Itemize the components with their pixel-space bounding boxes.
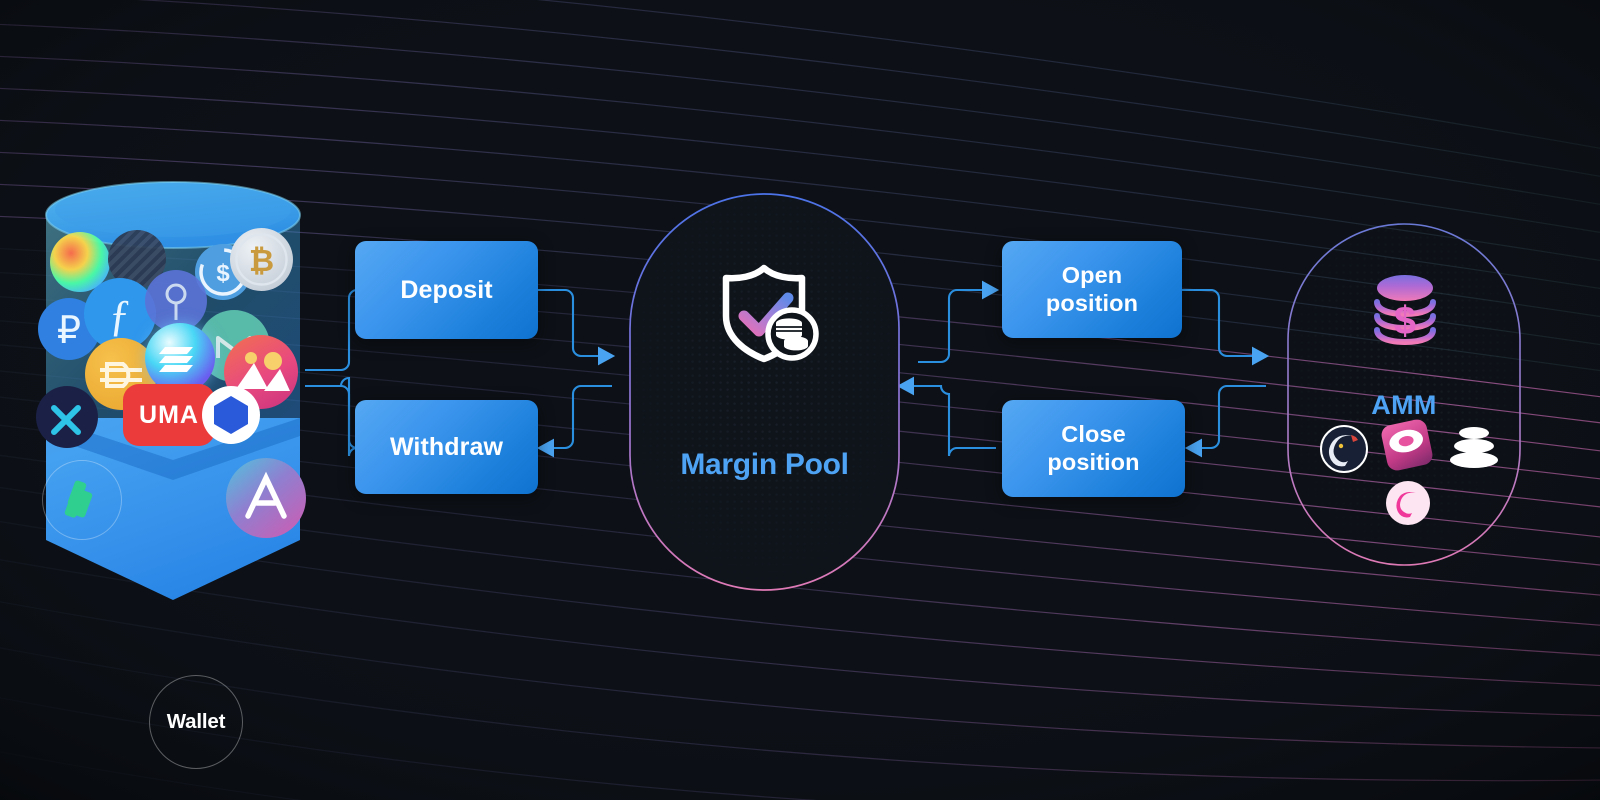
open-position-label-line1: Open bbox=[1062, 262, 1122, 288]
uniswap-logo-icon[interactable] bbox=[1386, 481, 1430, 525]
svg-text:$: $ bbox=[1394, 299, 1416, 343]
withdraw-button[interactable]: Withdraw bbox=[355, 400, 538, 494]
open-position-button[interactable]: Open position bbox=[1002, 241, 1182, 338]
amm-label: AMM bbox=[1286, 390, 1522, 421]
amm-group[interactable]: $ AMM bbox=[1286, 222, 1522, 567]
1inch-logo-icon[interactable] bbox=[1320, 425, 1368, 473]
withdraw-button-label: Withdraw bbox=[390, 433, 503, 462]
margin-pool[interactable]: Margin Pool bbox=[628, 192, 901, 592]
open-position-label-line2: position bbox=[1046, 290, 1138, 316]
diagram-canvas: $ ₿ ₽ ƒ UMA bbox=[0, 0, 1600, 800]
close-position-label-line1: Close bbox=[1061, 421, 1126, 447]
chainlink-token-icon bbox=[202, 386, 260, 444]
close-position-button[interactable]: Close position bbox=[1002, 400, 1185, 497]
margin-pool-capsule bbox=[628, 192, 901, 592]
aave-token-icon[interactable] bbox=[226, 458, 306, 538]
deposit-button-label: Deposit bbox=[400, 276, 492, 305]
zerox-token-icon bbox=[36, 386, 98, 448]
bitcoin-token-icon: ₿ bbox=[230, 228, 293, 291]
svg-text:₿: ₿ bbox=[249, 243, 274, 278]
wallet-cylinder[interactable]: $ ₿ ₽ ƒ UMA bbox=[28, 160, 318, 620]
deposit-button[interactable]: Deposit bbox=[355, 241, 538, 339]
balancer-logo-icon[interactable] bbox=[1448, 422, 1500, 470]
database-dollar-icon: $ bbox=[1369, 272, 1441, 358]
shield-check-coins-icon bbox=[712, 262, 820, 366]
compound-token-icon[interactable] bbox=[42, 460, 122, 540]
wallet-label-badge: Wallet bbox=[149, 675, 243, 769]
margin-pool-label: Margin Pool bbox=[628, 448, 901, 482]
svg-text:ƒ: ƒ bbox=[109, 291, 131, 340]
close-position-label-line2: position bbox=[1047, 449, 1139, 475]
solana-token-icon bbox=[145, 323, 215, 393]
svg-text:$: $ bbox=[216, 260, 230, 287]
sushiswap-logo-icon[interactable] bbox=[1380, 418, 1435, 473]
svg-text:₽: ₽ bbox=[57, 310, 81, 352]
wallet-label-text: Wallet bbox=[167, 710, 225, 734]
